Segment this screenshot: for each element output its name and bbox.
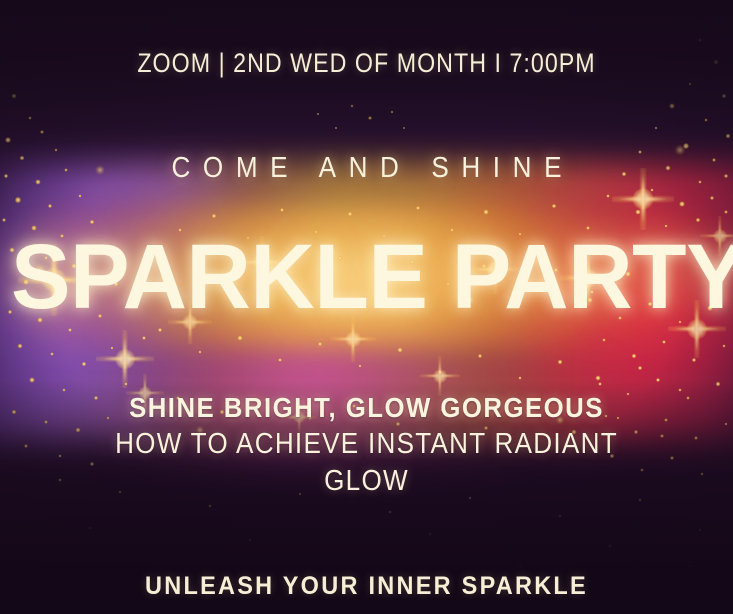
main-headline-sparkle-party: SPARKLE PARTY <box>11 232 722 322</box>
event-details-kicker: ZOOM | 2ND WED OF MONTH I 7:00PM <box>51 48 681 79</box>
flyer-content: ZOOM | 2ND WED OF MONTH I 7:00PM COME AN… <box>0 0 733 614</box>
sparkle-party-flyer: ZOOM | 2ND WED OF MONTH I 7:00PM COME AN… <box>0 0 733 614</box>
subtitle-description-line1: HOW TO ACHIEVE INSTANT RADIANT <box>115 428 618 460</box>
subtitle-tagline: SHINE BRIGHT, GLOW GORGEOUS <box>29 392 703 424</box>
eyebrow-come-and-shine: COME AND SHINE <box>37 152 697 185</box>
footer-call-to-action: UNLEASH YOUR INNER SPARKLE <box>22 572 711 601</box>
subtitle-description-line2: GLOW <box>37 463 697 500</box>
subtitle-description: HOW TO ACHIEVE INSTANT RADIANT GLOW <box>37 426 697 499</box>
